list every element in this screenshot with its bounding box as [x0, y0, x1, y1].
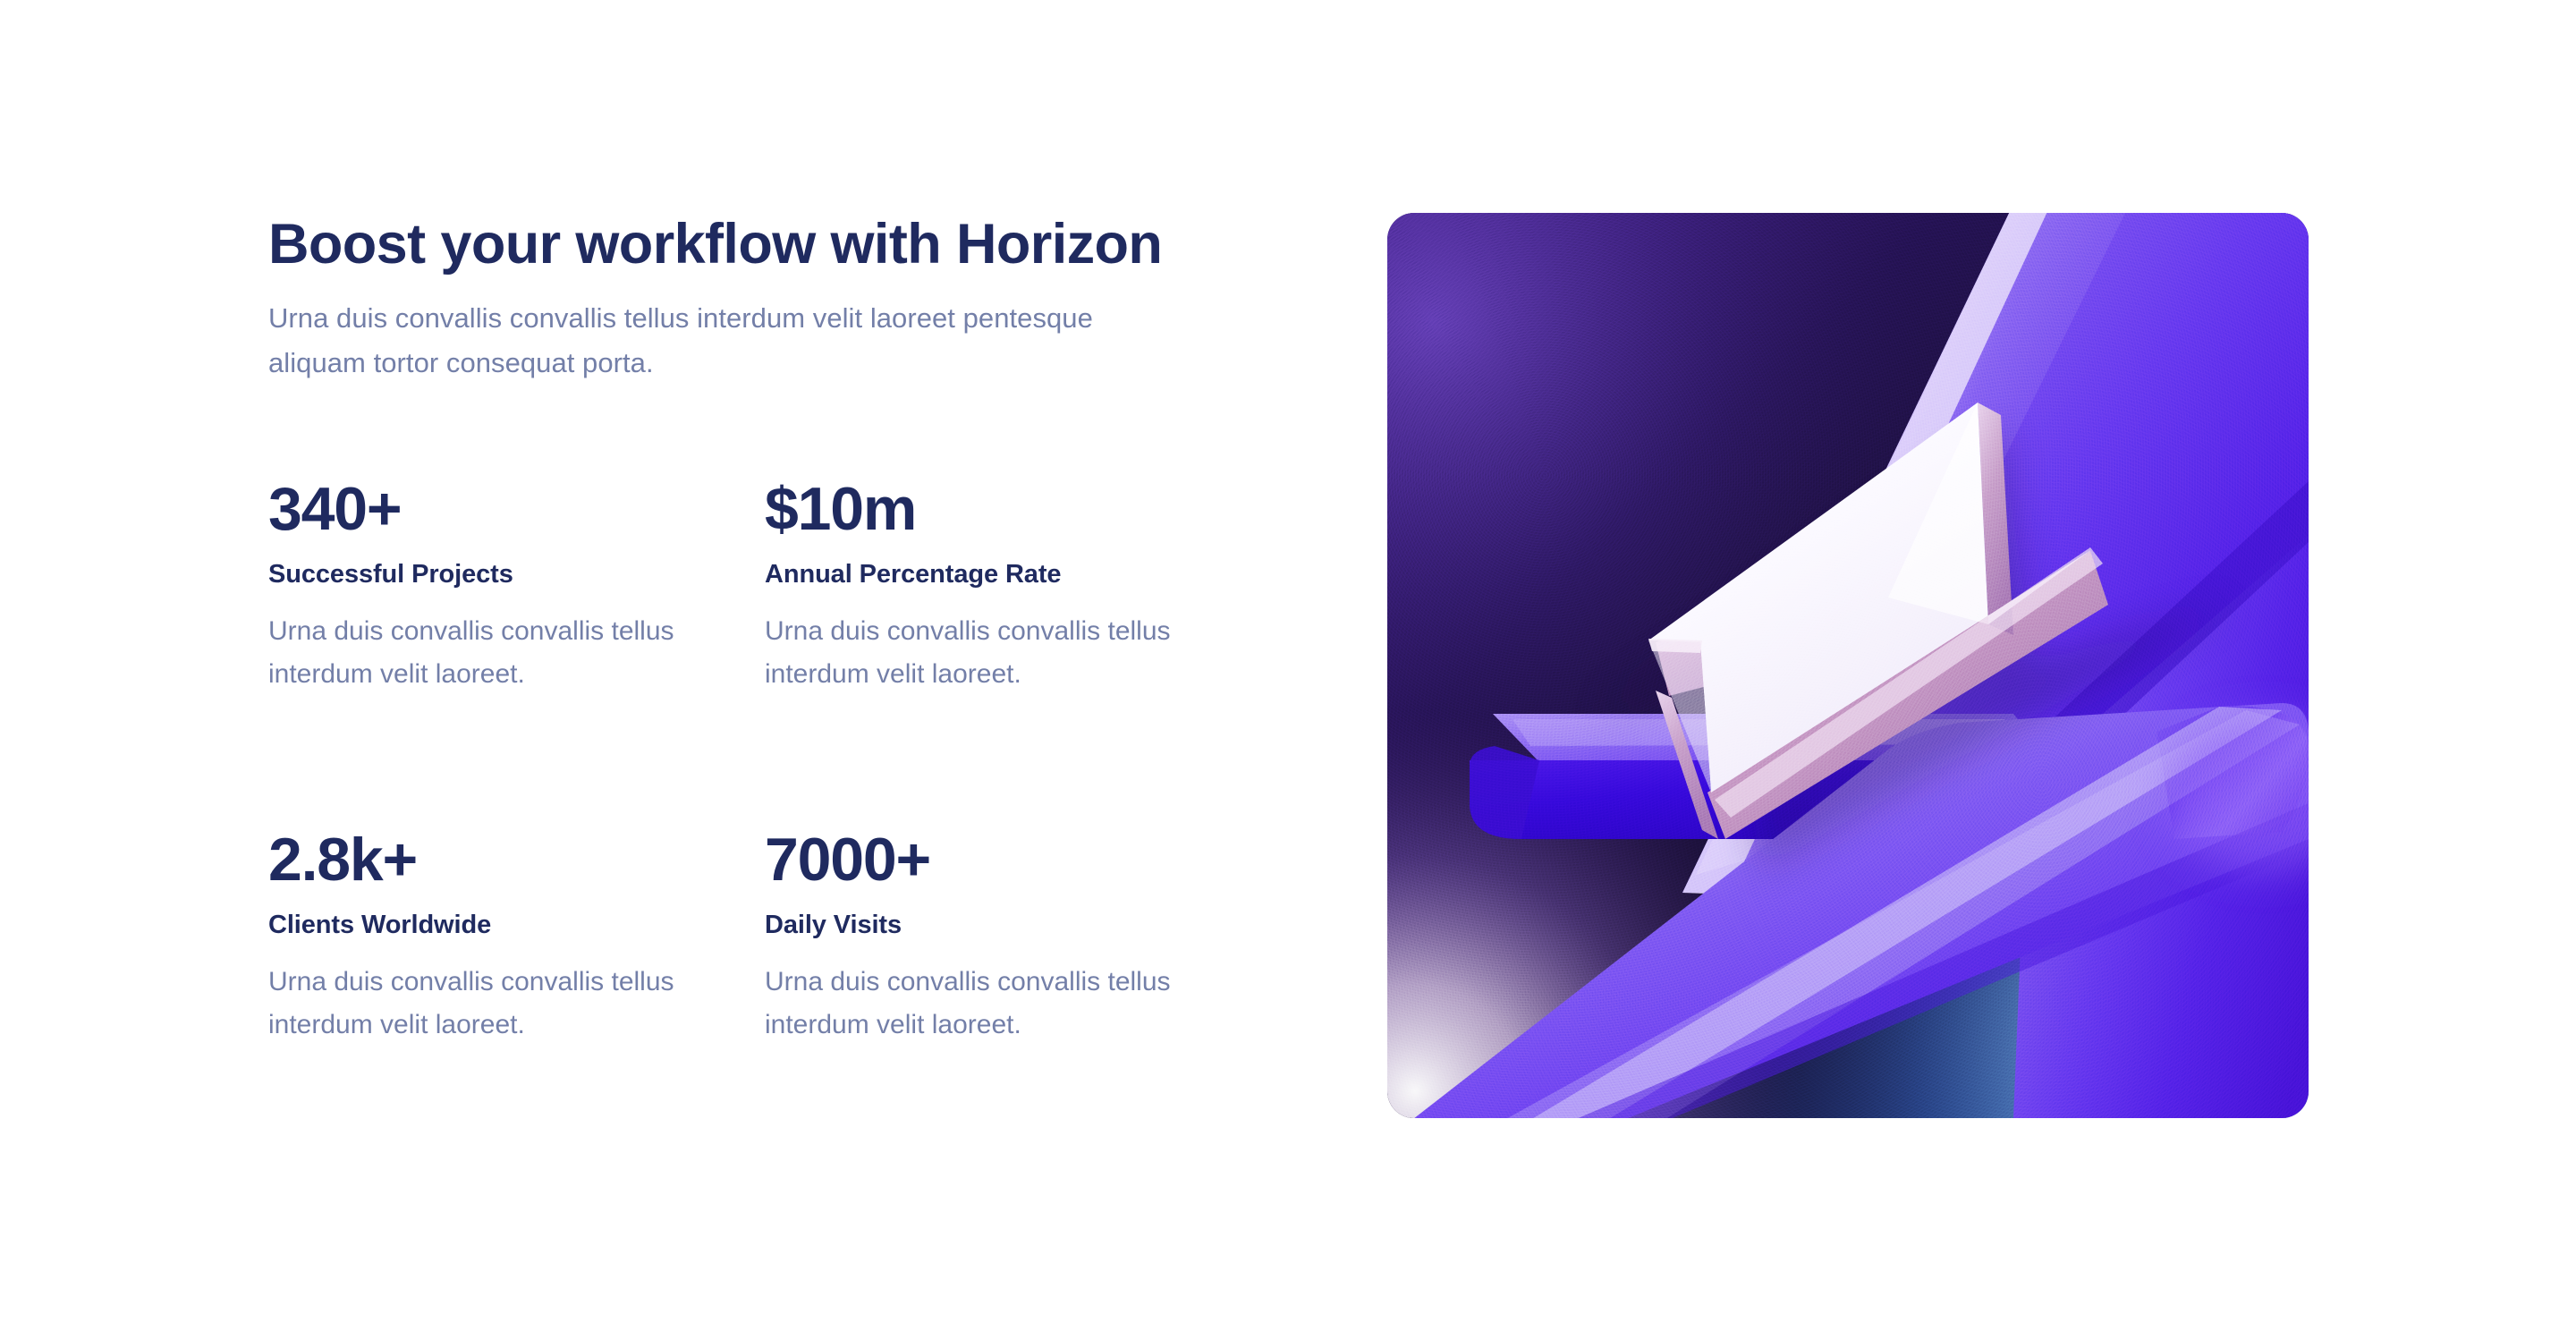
hero-description: Urna duis convallis convallis tellus int…	[268, 296, 1181, 386]
stat-card: $10m Annual Percentage Rate Urna duis co…	[765, 479, 1230, 697]
stat-value: 7000+	[765, 829, 1230, 890]
stat-value: 340+	[268, 479, 733, 539]
stat-label: Clients Worldwide	[268, 910, 733, 941]
stat-value: $10m	[765, 479, 1230, 539]
hero-visual	[1387, 213, 2309, 1118]
stats-grid: 340+ Successful Projects Urna duis conva…	[268, 479, 1207, 1047]
stat-value: 2.8k+	[268, 829, 733, 890]
page-title: Boost your workflow with Horizon	[268, 213, 1207, 276]
stat-card: 2.8k+ Clients Worldwide Urna duis conval…	[268, 829, 733, 1047]
stat-label: Successful Projects	[268, 559, 733, 590]
stat-card: 7000+ Daily Visits Urna duis convallis c…	[765, 829, 1230, 1047]
stat-description: Urna duis convallis convallis tellus int…	[765, 610, 1185, 697]
content-column: Boost your workflow with Horizon Urna du…	[268, 213, 1207, 1047]
stats-hero-section: Boost your workflow with Horizon Urna du…	[0, 0, 2576, 1331]
stat-description: Urna duis convallis convallis tellus int…	[765, 961, 1185, 1047]
stat-description: Urna duis convallis convallis tellus int…	[268, 961, 689, 1047]
stat-description: Urna duis convallis convallis tellus int…	[268, 610, 689, 697]
stat-card: 340+ Successful Projects Urna duis conva…	[268, 479, 733, 697]
lightning-bolt-icon	[1387, 213, 2309, 1118]
stat-label: Annual Percentage Rate	[765, 559, 1230, 590]
stat-label: Daily Visits	[765, 910, 1230, 941]
